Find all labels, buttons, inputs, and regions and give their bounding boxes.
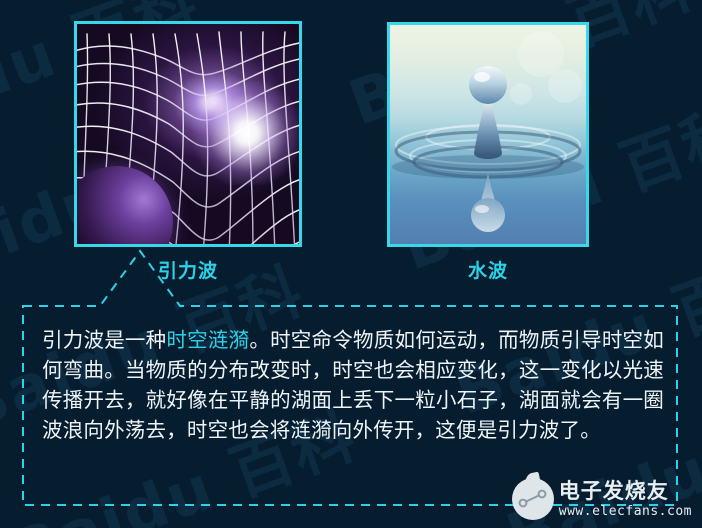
water-drop-illustration	[390, 25, 586, 244]
water-drop-icon	[390, 25, 586, 244]
caption-gravitational-wave: 引力波	[74, 256, 302, 283]
logo-brand-text: 电子发烧友	[559, 481, 692, 502]
paragraph-highlight: 时空涟漪	[166, 328, 249, 352]
callout-paragraph: 引力波是一种时空涟漪。时空命令物质如何运动，而物质引导时空如何弯曲。当物质的分布…	[42, 325, 664, 445]
logo-url-text: www.elecfans.com	[559, 505, 692, 518]
star-flare-icon	[188, 81, 299, 185]
image-card-water-wave	[387, 22, 589, 247]
elecfans-logo-icon	[512, 478, 554, 520]
gravitational-wave-illustration	[77, 24, 299, 244]
slide-canvas: Baidu 百科Baidu 百科 Baidu 百科Baidu 百科 Baidu …	[0, 0, 702, 528]
paragraph-text: 引力波是一种	[42, 328, 166, 352]
image-card-gravitational-wave	[74, 21, 302, 247]
site-logo-watermark: 电子发烧友 www.elecfans.com	[512, 478, 692, 520]
caption-water-wave: 水波	[387, 256, 589, 283]
